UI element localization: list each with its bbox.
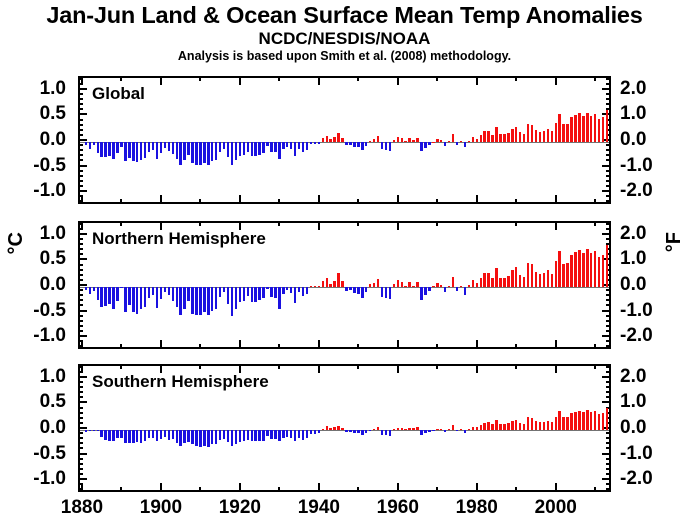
bar: [369, 284, 371, 287]
bar: [491, 278, 493, 287]
bar: [539, 422, 541, 430]
panel-title-northern-hemisphere: Northern Hemisphere: [92, 229, 266, 249]
y-tick-label-left: 1.0: [0, 224, 66, 243]
bar: [487, 273, 489, 287]
bar: [326, 278, 328, 287]
bar: [207, 142, 209, 165]
bar: [108, 287, 110, 304]
bar: [128, 287, 130, 305]
bar: [191, 430, 193, 444]
chart-subtitle: NCDC/NESDIS/NOAA: [0, 29, 689, 48]
bar: [195, 430, 197, 446]
bar: [377, 427, 379, 430]
bar: [420, 430, 422, 435]
bar: [353, 287, 355, 293]
bar: [302, 287, 304, 296]
bar: [401, 282, 403, 287]
bar: [606, 245, 608, 287]
bar: [195, 142, 197, 165]
bar: [424, 430, 426, 433]
bar: [369, 141, 371, 142]
bar: [578, 250, 580, 287]
bar: [116, 430, 118, 438]
bar: [199, 142, 201, 165]
bar: [365, 430, 367, 433]
bar: [424, 142, 426, 148]
chart-header: Jan-Jun Land & Ocean Surface Mean Temp A…: [0, 2, 689, 64]
bar: [100, 142, 102, 157]
bar: [156, 430, 158, 441]
bar: [160, 430, 162, 439]
bar: [132, 287, 134, 312]
bar: [476, 139, 478, 142]
bar: [598, 414, 600, 430]
bar: [187, 430, 189, 442]
y-tick-label-left: 0.5: [0, 392, 66, 411]
bar: [464, 142, 466, 147]
bar: [176, 142, 178, 159]
bar: [191, 287, 193, 314]
bar: [85, 287, 87, 290]
bar: [231, 287, 233, 316]
y-tick-label-right: 0.0: [620, 418, 680, 437]
bar: [219, 142, 221, 152]
bar: [598, 257, 600, 287]
bar: [302, 430, 304, 440]
x-tick-label: 1940: [279, 498, 359, 517]
bar: [551, 422, 553, 430]
bar: [487, 422, 489, 430]
x-tick-label: 1880: [42, 498, 122, 517]
bar: [93, 287, 95, 291]
bar: [215, 142, 217, 160]
bar: [247, 430, 249, 440]
bar: [523, 134, 525, 142]
bar: [424, 287, 426, 295]
bar: [570, 255, 572, 287]
bar: [428, 287, 430, 291]
bar: [164, 287, 166, 292]
bar: [203, 430, 205, 446]
bar: [116, 142, 118, 153]
bar: [472, 427, 474, 430]
bar: [448, 141, 450, 142]
bar: [412, 428, 414, 430]
bar: [519, 423, 521, 430]
bar: [172, 430, 174, 439]
y-tick-label-right: 2.0: [620, 224, 680, 243]
bar: [460, 286, 462, 287]
bar: [251, 142, 253, 156]
bar: [223, 430, 225, 439]
bar: [562, 417, 564, 430]
bar: [558, 251, 560, 287]
bar: [373, 429, 375, 430]
bar: [183, 142, 185, 160]
bar: [551, 131, 553, 142]
bar: [97, 142, 99, 153]
bar: [219, 287, 221, 297]
bar: [152, 430, 154, 438]
bar: [495, 420, 497, 430]
bar: [286, 287, 288, 290]
bar: [428, 142, 430, 145]
bar: [282, 430, 284, 438]
bar: [594, 251, 596, 287]
bar: [535, 421, 537, 430]
bar: [385, 430, 387, 435]
bar: [416, 138, 418, 142]
bar: [523, 424, 525, 430]
bar: [266, 142, 268, 146]
bar: [132, 142, 134, 161]
bar: [266, 287, 268, 289]
bar: [535, 130, 537, 142]
bar: [499, 134, 501, 142]
bar: [393, 140, 395, 142]
x-tick-label: 1960: [358, 498, 438, 517]
bar: [539, 132, 541, 142]
bar: [286, 430, 288, 437]
bar: [262, 430, 264, 441]
bar: [247, 142, 249, 152]
bar: [270, 430, 272, 439]
bar: [235, 430, 237, 444]
bar: [574, 115, 576, 142]
bar: [329, 284, 331, 287]
bar: [251, 430, 253, 441]
bar: [318, 430, 320, 433]
bar: [491, 424, 493, 430]
bar: [539, 274, 541, 287]
bar: [432, 142, 434, 143]
bar: [318, 142, 320, 144]
y-tick-label-left: 1.0: [0, 367, 66, 386]
bar: [511, 421, 513, 430]
bar: [333, 137, 335, 142]
bar: [570, 117, 572, 142]
bar: [195, 287, 197, 315]
bar: [215, 287, 217, 309]
y-tick-label-right: 2.0: [620, 367, 680, 386]
bar: [148, 430, 150, 438]
bar: [349, 142, 351, 145]
bar: [586, 113, 588, 142]
bar: [144, 142, 146, 158]
bar: [89, 287, 91, 294]
bar: [590, 116, 592, 142]
bar: [436, 139, 438, 142]
bar: [472, 137, 474, 142]
bar: [582, 116, 584, 142]
bar: [290, 142, 292, 149]
bar: [381, 287, 383, 297]
y-tick-label-right: 0.0: [620, 130, 680, 149]
x-tick-label: 1980: [437, 498, 517, 517]
bar: [404, 141, 406, 142]
y-tick-label-right: -2.0: [620, 469, 680, 488]
bar: [389, 287, 391, 299]
bar: [480, 278, 482, 287]
bar: [322, 281, 324, 287]
bar: [499, 424, 501, 430]
bar: [523, 277, 525, 287]
y-tick-label-left: -1.0: [0, 326, 66, 345]
bar: [349, 430, 351, 432]
bar: [602, 117, 604, 142]
bar: [404, 429, 406, 430]
bar: [543, 131, 545, 142]
bar: [148, 287, 150, 298]
bar: [558, 114, 560, 142]
bar: [223, 287, 225, 292]
y-tick-label-right: 1.0: [620, 249, 680, 268]
bar: [444, 287, 446, 292]
bar: [606, 408, 608, 430]
bar: [341, 138, 343, 142]
bar: [361, 430, 363, 435]
bar: [136, 142, 138, 162]
bar: [543, 273, 545, 287]
bar: [243, 287, 245, 301]
bar: [152, 142, 154, 150]
y-tick-label-left: 0.0: [0, 275, 66, 294]
bar: [353, 430, 355, 433]
y-tick-label-left: -0.5: [0, 444, 66, 463]
bar: [187, 142, 189, 155]
bar: [278, 430, 280, 441]
bar: [361, 142, 363, 150]
bar: [124, 430, 126, 443]
bar: [436, 283, 438, 287]
bar: [397, 137, 399, 142]
bar: [239, 142, 241, 156]
bar: [160, 287, 162, 299]
bar: [420, 142, 422, 151]
bar: [476, 283, 478, 287]
bar: [408, 138, 410, 142]
bar: [93, 430, 95, 431]
bar: [227, 430, 229, 442]
bar: [570, 413, 572, 430]
bar: [318, 286, 320, 287]
bar: [164, 430, 166, 437]
bar: [164, 142, 166, 148]
bar: [507, 133, 509, 142]
bar: [231, 142, 233, 165]
bar: [547, 270, 549, 287]
bar: [140, 142, 142, 160]
bar: [183, 430, 185, 443]
bar: [128, 430, 130, 443]
bar: [314, 430, 316, 434]
bar: [531, 418, 533, 430]
bar: [586, 249, 588, 287]
bar: [243, 142, 245, 155]
bar: [401, 138, 403, 142]
bar: [460, 429, 462, 430]
bar: [298, 430, 300, 438]
bar: [290, 430, 292, 438]
bar: [389, 142, 391, 151]
bar: [148, 142, 150, 152]
bar: [519, 275, 521, 287]
bar: [156, 142, 158, 159]
bar: [262, 287, 264, 298]
bar: [385, 287, 387, 298]
bar: [397, 428, 399, 430]
bar: [294, 430, 296, 441]
bar: [112, 287, 114, 309]
bar: [555, 123, 557, 142]
bar: [365, 142, 367, 146]
bar: [456, 430, 458, 431]
bar: [444, 430, 446, 432]
bar: [578, 411, 580, 430]
bar: [199, 430, 201, 447]
bar: [602, 413, 604, 430]
bar: [176, 287, 178, 307]
bar: [191, 142, 193, 163]
bar: [566, 417, 568, 430]
bar: [456, 142, 458, 145]
bar: [112, 142, 114, 159]
bar: [464, 287, 466, 295]
bar: [160, 142, 162, 153]
bar: [306, 430, 308, 438]
bar: [480, 135, 482, 142]
panel-title-southern-hemisphere: Southern Hemisphere: [92, 372, 269, 392]
bar: [270, 287, 272, 297]
bar: [215, 430, 217, 444]
panel-title-global: Global: [92, 84, 145, 104]
bar: [211, 430, 213, 444]
bar: [440, 429, 442, 430]
bar: [310, 142, 312, 144]
bar: [483, 273, 485, 287]
bar: [341, 281, 343, 287]
bar: [503, 424, 505, 430]
bar: [578, 113, 580, 142]
bar: [199, 287, 201, 315]
bar: [420, 287, 422, 300]
bar: [278, 142, 280, 159]
bar: [515, 267, 517, 287]
bar: [286, 142, 288, 147]
bar: [452, 425, 454, 430]
bar: [412, 286, 414, 287]
bar: [483, 423, 485, 430]
y-tick-label-right: 1.0: [620, 104, 680, 123]
bar: [440, 285, 442, 287]
bar: [227, 142, 229, 157]
bar: [223, 142, 225, 149]
page-title: Jan-Jun Land & Ocean Surface Mean Temp A…: [0, 2, 689, 28]
bar: [590, 412, 592, 430]
bar: [282, 287, 284, 294]
bar: [294, 142, 296, 156]
bar: [179, 287, 181, 315]
bar: [231, 430, 233, 446]
y-tick-label-right: -2.0: [620, 181, 680, 200]
bar: [440, 140, 442, 142]
bar: [203, 287, 205, 312]
bar: [373, 139, 375, 142]
bar: [472, 280, 474, 287]
bar: [128, 142, 130, 158]
bar: [274, 142, 276, 152]
bar: [120, 430, 122, 438]
bar: [251, 287, 253, 302]
bar: [136, 287, 138, 314]
bar: [377, 136, 379, 142]
bar: [341, 428, 343, 430]
bar: [574, 412, 576, 430]
bar: [262, 142, 264, 153]
bar: [104, 287, 106, 306]
y-tick-label-right: 0.0: [620, 275, 680, 294]
bar: [345, 287, 347, 291]
bar: [333, 281, 335, 287]
bar: [416, 427, 418, 430]
chart-panel-southern-hemisphere: Southern Hemisphere: [78, 364, 611, 492]
y-tick-label-left: -1.0: [0, 469, 66, 488]
bar: [239, 430, 241, 442]
bar: [187, 287, 189, 301]
bar: [357, 142, 359, 147]
bar: [436, 429, 438, 430]
bar: [594, 411, 596, 430]
bar: [393, 284, 395, 287]
y-tick-label-left: 0.0: [0, 130, 66, 149]
bar: [381, 430, 383, 435]
bar: [207, 287, 209, 315]
bar: [531, 125, 533, 142]
bar: [258, 287, 260, 300]
x-tick-label: 1920: [200, 498, 280, 517]
bar: [483, 131, 485, 142]
bar: [211, 287, 213, 311]
bar: [235, 287, 237, 309]
bar: [282, 142, 284, 149]
bar: [547, 129, 549, 142]
bar: [381, 142, 383, 149]
bar: [254, 287, 256, 302]
bar: [298, 287, 300, 292]
bar: [270, 142, 272, 152]
bar: [349, 287, 351, 290]
bar: [329, 139, 331, 142]
bar: [464, 430, 466, 433]
bar: [345, 430, 347, 432]
bar: [389, 430, 391, 436]
y-tick-label-left: -1.0: [0, 181, 66, 200]
bar: [590, 253, 592, 287]
bar: [345, 142, 347, 145]
bar: [602, 255, 604, 287]
bar: [558, 411, 560, 430]
bar: [278, 287, 280, 309]
bar: [310, 430, 312, 434]
bar: [211, 142, 213, 161]
bar: [365, 287, 367, 292]
bar: [476, 427, 478, 430]
bar: [480, 425, 482, 430]
bar: [408, 428, 410, 430]
bar: [566, 263, 568, 287]
bar: [511, 129, 513, 142]
bar: [322, 429, 324, 430]
